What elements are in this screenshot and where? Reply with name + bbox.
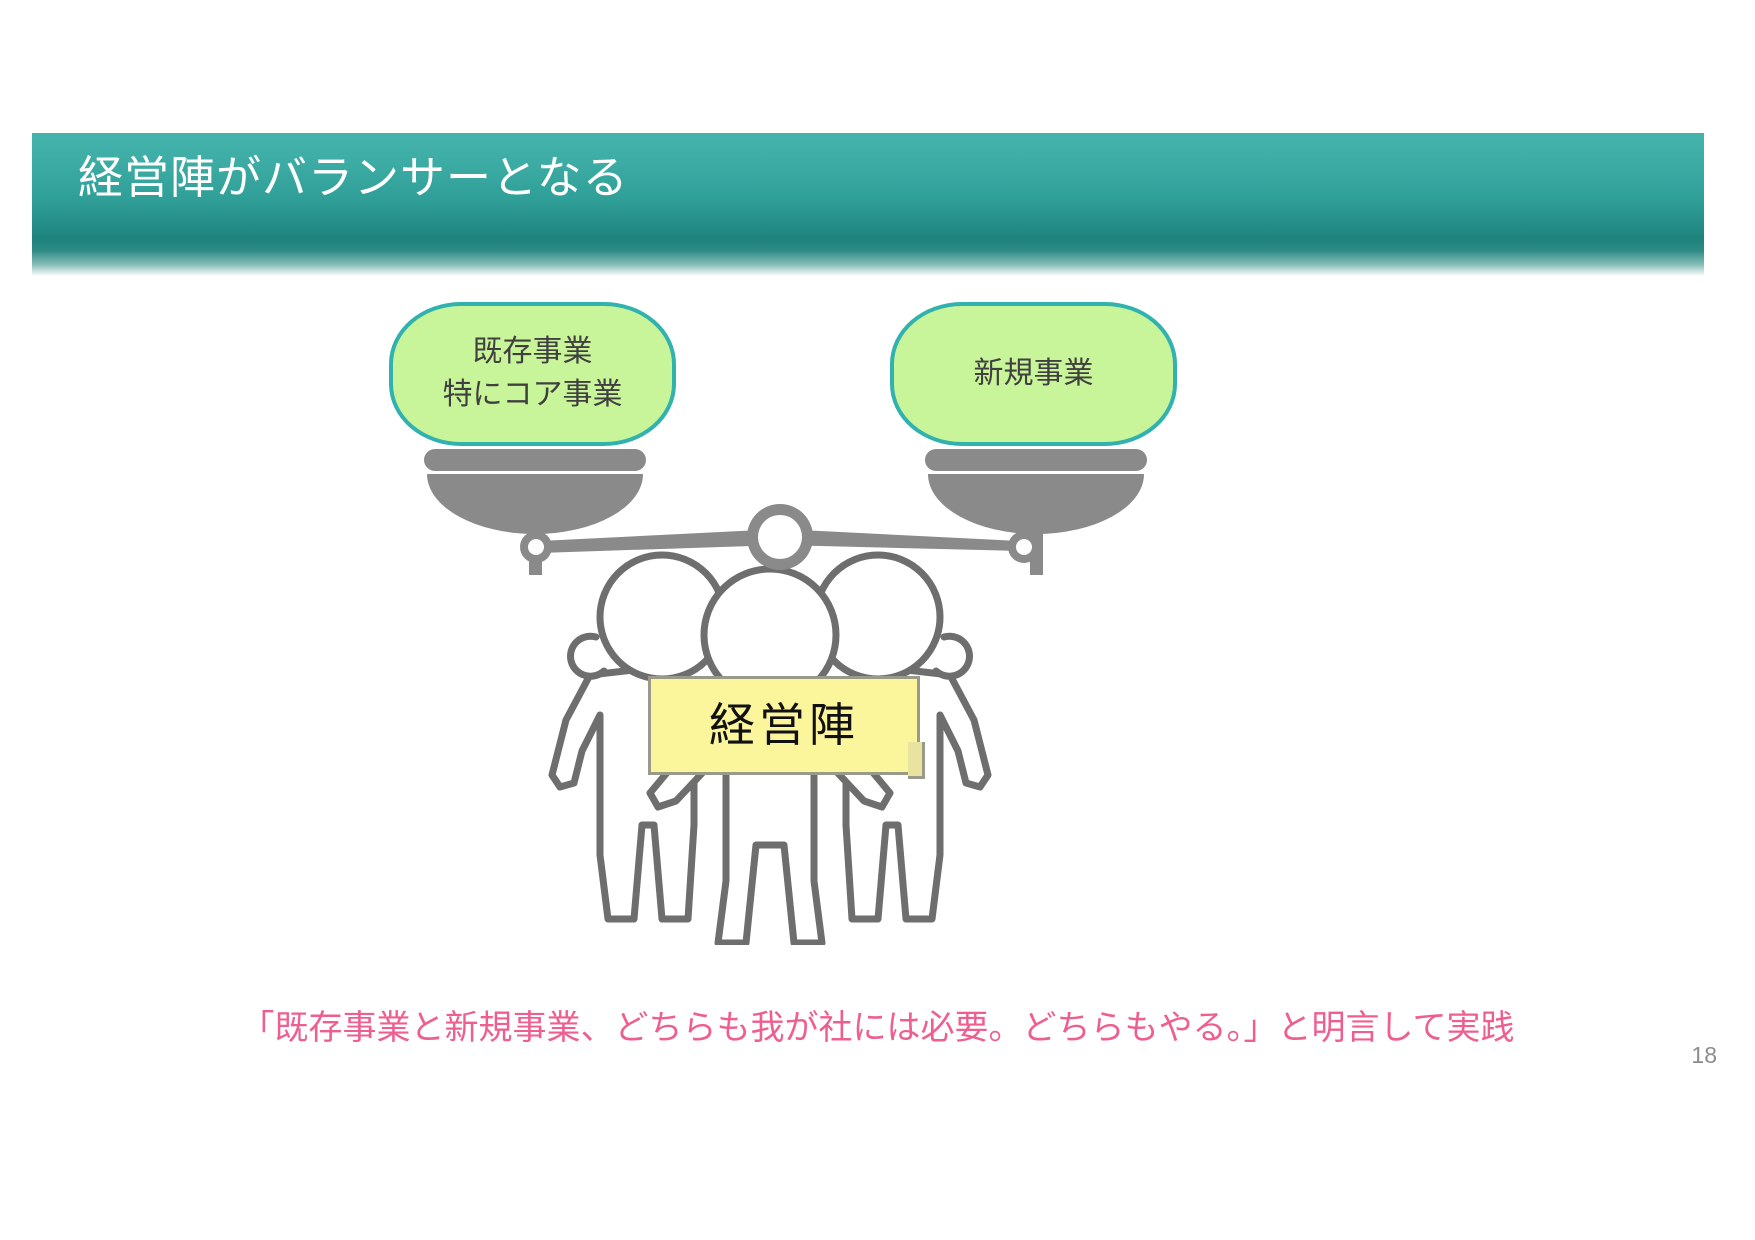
page-number: 18 — [1691, 1042, 1717, 1069]
page-title: 経営陣がバランサーとなる — [78, 155, 629, 200]
management-sign: 経営陣 — [648, 676, 920, 775]
balance-scale-diagram: 既存事業 特にコア事業 新規事業 — [0, 280, 1755, 980]
scale-beam-icon — [480, 495, 1080, 585]
slide-caption: 「既存事業と新規事業、どちらも我が社には必要。どちらもやる。」と明言して実践 — [0, 1000, 1755, 1049]
management-sign-label: 経営陣 — [709, 703, 859, 749]
management-sign-fold — [908, 742, 925, 779]
scale-pan-label-left-text: 既存事業 特にコア事業 — [443, 331, 623, 416]
scale-pan-rim-left — [424, 449, 646, 471]
scale-pan-label-right-text: 新規事業 — [974, 353, 1094, 396]
scale-pan-label-left: 既存事業 特にコア事業 — [389, 302, 676, 446]
scale-pan-rim-right — [925, 449, 1147, 471]
scale-pan-label-right: 新規事業 — [890, 302, 1177, 446]
slide: 経営陣がバランサーとなる 既存事業 特にコア事業 新規事業 — [0, 0, 1755, 1240]
